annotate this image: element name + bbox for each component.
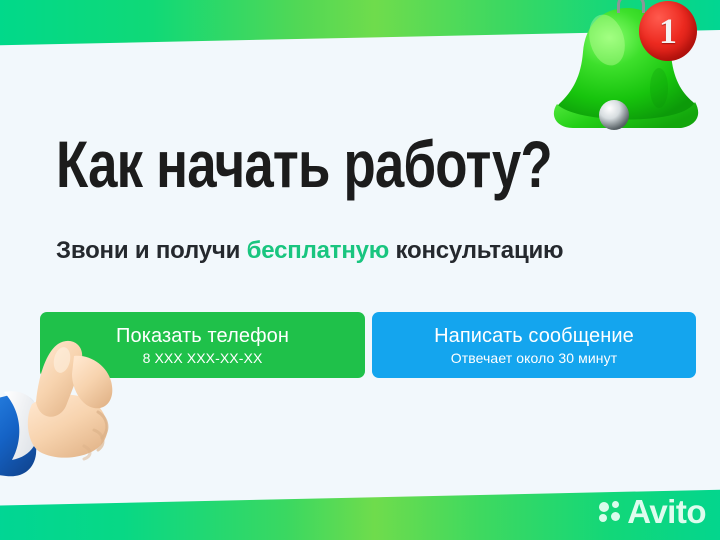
show-phone-label: Показать телефон [116,325,289,347]
subtitle-before: Звони и получи [56,237,247,264]
bell-clapper-icon [599,100,629,130]
page-title: Как начать работу? [56,131,552,197]
write-message-button[interactable]: Написать сообщение Отвечает около 30 мин… [372,312,696,378]
subtitle-after: консультацию [389,237,563,264]
top-green-band [0,0,720,50]
subtitle: Звони и получи бесплатную консультацию [56,237,563,265]
avito-dots-icon [599,501,621,523]
promo-banner: Как начать работу? Звони и получи беспла… [0,0,720,540]
notification-badge-count: 1 [659,13,677,49]
notification-bell-icon: 1 [541,0,720,157]
write-message-response-time: Отвечает около 30 минут [451,350,618,366]
bell-hanger-icon [617,0,645,13]
write-message-label: Написать сообщение [434,325,634,347]
subtitle-highlight: бесплатную [247,237,389,264]
bottom-green-band [0,486,720,540]
show-phone-number: 8 XXX XXX-XX-XX [143,350,263,366]
show-phone-button[interactable]: Показать телефон 8 XXX XXX-XX-XX [40,312,365,378]
notification-badge: 1 [639,1,697,61]
avito-wordmark: Avito [627,495,706,528]
avito-logo: Avito [599,495,706,528]
bell-shape-icon [541,0,720,157]
